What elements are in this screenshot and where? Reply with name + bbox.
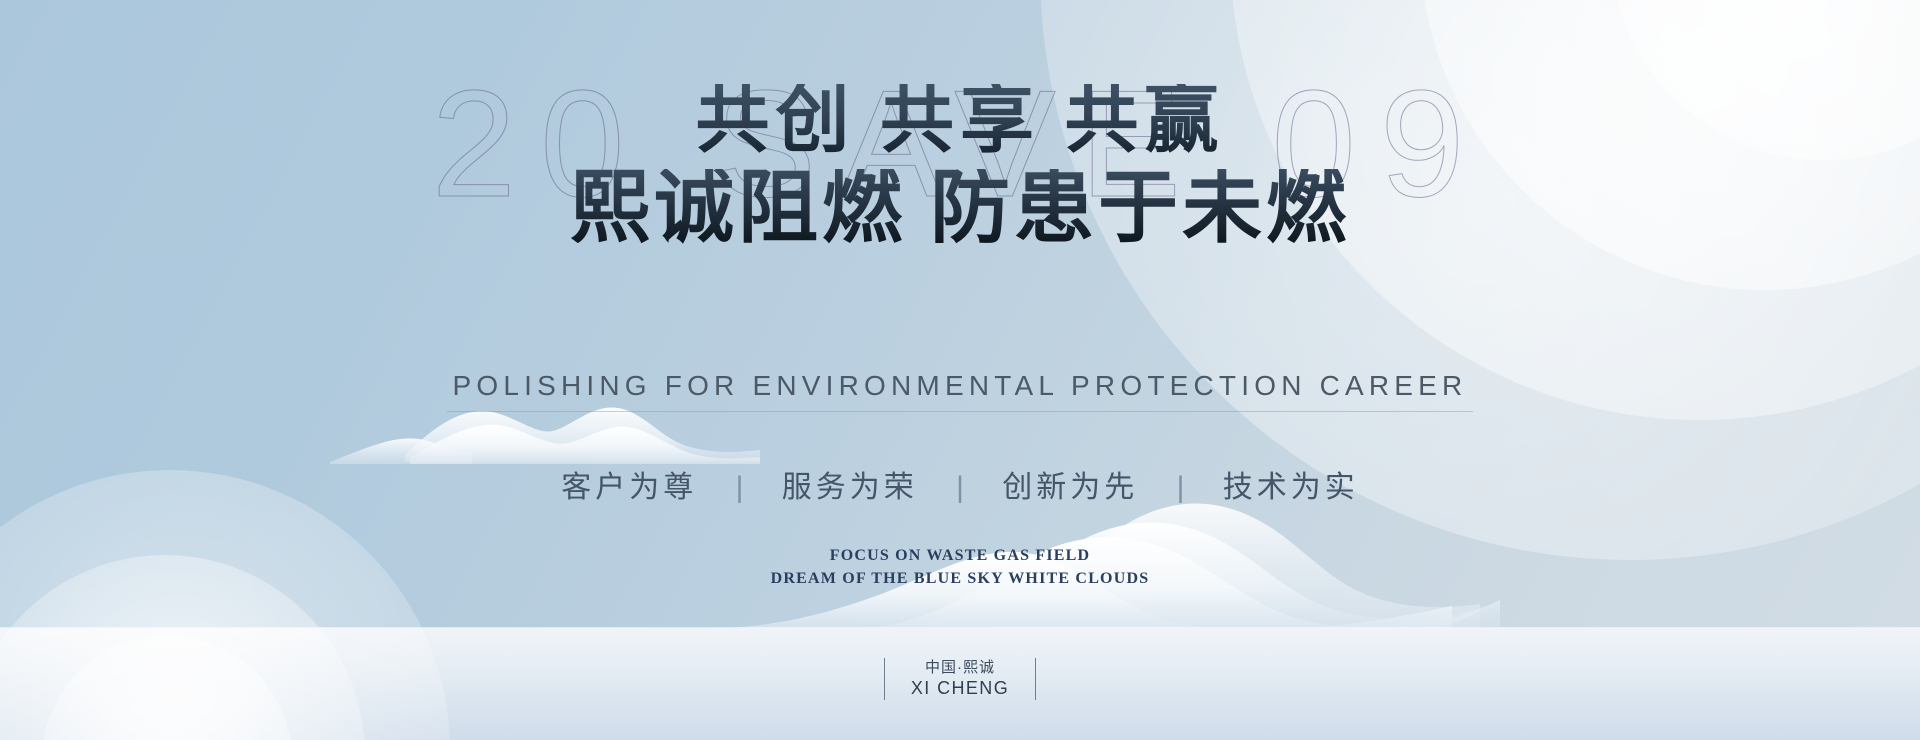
value-phrase-3: 创新为先 <box>1002 462 1138 506</box>
serif-caption-line-1: FOCUS ON WASTE GAS FIELD <box>0 544 1920 567</box>
value-separator-3: | <box>1177 471 1185 505</box>
tagline-wrapper: POLISHING FOR ENVIRONMENTAL PROTECTION C… <box>0 370 1920 412</box>
serif-caption-block: FOCUS ON WASTE GAS FIELD DREAM OF THE BL… <box>0 544 1920 590</box>
value-phrase-4: 技术为实 <box>1223 462 1359 506</box>
value-phrase-1: 客户为尊 <box>561 462 697 506</box>
value-separator-2: | <box>956 471 964 505</box>
headline-line-2: 熙诚阻燃 防患于未燃 <box>0 169 1920 251</box>
banner-stage: 20 SAVE 09 <box>0 0 1920 740</box>
brand-divider-left <box>884 658 885 700</box>
brand-names: 中国·熙诚 XI CHENG <box>911 658 1009 700</box>
brand-name-cn: 中国·熙诚 <box>911 658 1009 677</box>
brand-name-en: XI CHENG <box>911 677 1009 700</box>
value-separator-1: | <box>736 471 744 505</box>
headline-block: 共创 共享 共赢 熙诚阻燃 防患于未燃 <box>0 84 1920 251</box>
english-tagline: POLISHING FOR ENVIRONMENTAL PROTECTION C… <box>447 370 1474 412</box>
brand-divider-right <box>1035 658 1036 700</box>
value-phrase-2: 服务为荣 <box>782 462 918 506</box>
brand-mark: 中国·熙诚 XI CHENG <box>0 658 1920 700</box>
headline-line-1: 共创 共享 共赢 <box>0 84 1920 159</box>
value-phrase-row: 客户为尊 | 服务为荣 | 创新为先 | 技术为实 <box>0 462 1920 506</box>
serif-caption-line-2: DREAM OF THE BLUE SKY WHITE CLOUDS <box>0 567 1920 590</box>
